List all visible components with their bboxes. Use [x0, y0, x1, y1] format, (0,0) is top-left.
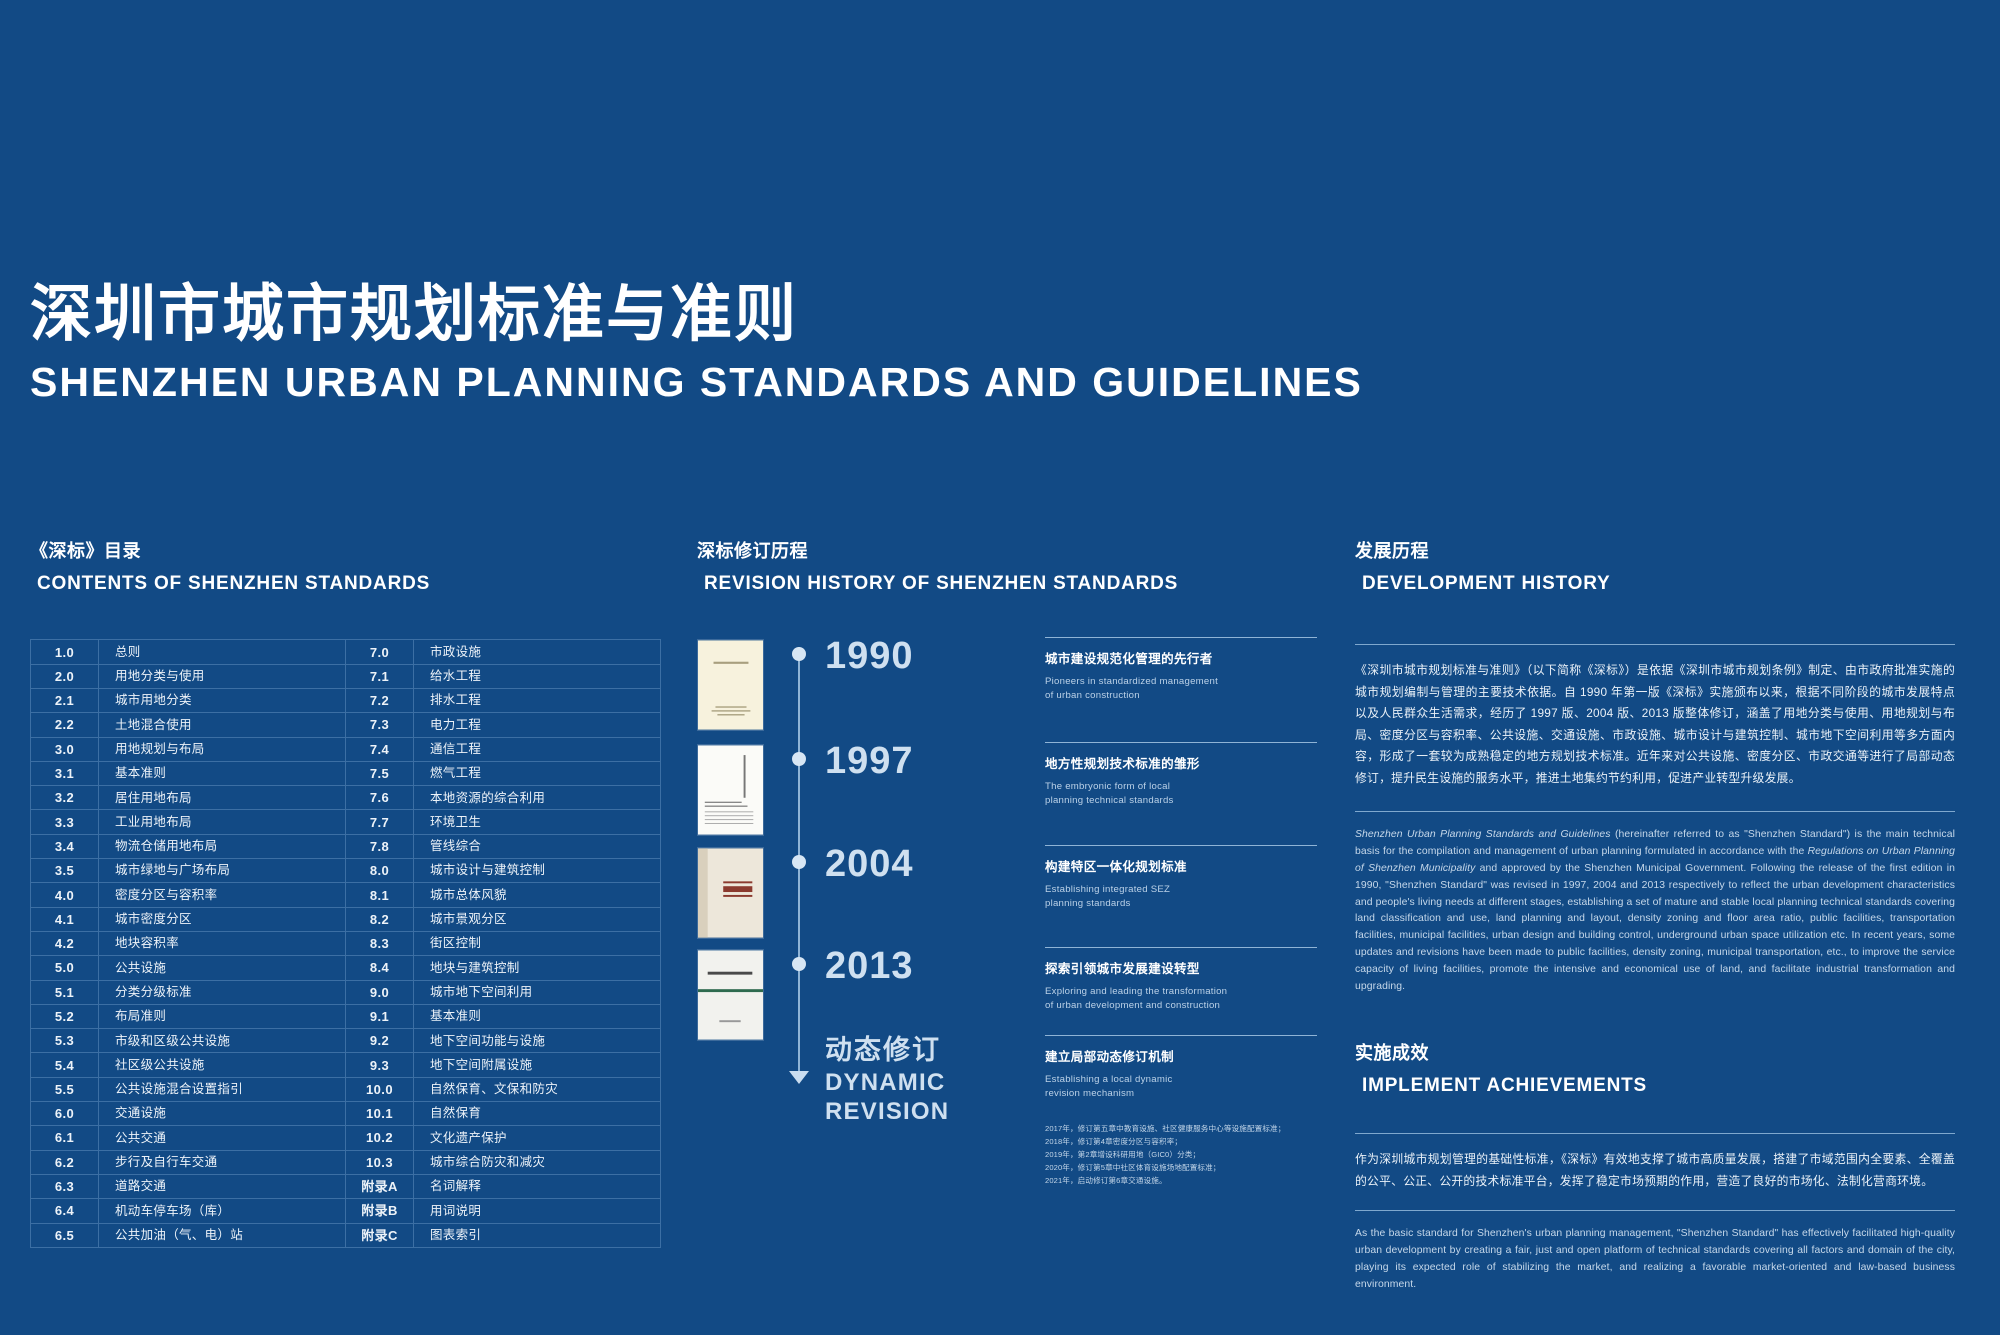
toc-label-left: 机动车停车场（库）	[99, 1199, 346, 1223]
achievements-heading-cn: 实施成效	[1355, 1040, 1955, 1067]
toc-number-right: 8.3	[346, 931, 414, 955]
achievements-divider-2	[1355, 1210, 1955, 1211]
timeline-description-rule	[1045, 637, 1317, 638]
toc-label-left: 地块容积率	[99, 931, 346, 955]
toc-label-left: 市级和区级公共设施	[99, 1029, 346, 1053]
toc-label-right: 市政设施	[414, 640, 661, 664]
development-divider-1	[1355, 644, 1955, 645]
toc-label-right: 电力工程	[414, 713, 661, 737]
timeline-description-rule	[1045, 742, 1317, 743]
achievements-paragraph-cn: 作为深圳城市规划管理的基础性标准，《深标》有效地支撑了城市高质量发展，搭建了市域…	[1355, 1149, 1955, 1192]
page-title-en: SHENZHEN URBAN PLANNING STANDARDS AND GU…	[30, 359, 1363, 406]
table-row: 5.1分类分级标准9.0城市地下空间利用	[31, 980, 661, 1004]
timeline-dot-icon	[792, 957, 806, 971]
toc-number-left: 5.4	[31, 1053, 99, 1077]
toc-label-right: 环境卫生	[414, 810, 661, 834]
timeline-description-en: Exploring and leading the transformation…	[1045, 985, 1317, 1012]
toc-number-left: 6.3	[31, 1174, 99, 1198]
dynamic-revision-label-en: DYNAMICREVISION	[825, 1069, 949, 1126]
development-para-italic-1: Shenzhen Urban Planning Standards and Gu…	[1355, 829, 1611, 840]
poster-root: 深圳市城市规划标准与准则 SHENZHEN URBAN PLANNING STA…	[0, 0, 2000, 1335]
toc-number-left: 2.0	[31, 664, 99, 688]
toc-label-right: 名词解释	[414, 1174, 661, 1198]
toc-label-right: 本地资源的综合利用	[414, 786, 661, 810]
toc-label-right: 自然保育、文保和防灾	[414, 1077, 661, 1101]
toc-label-left: 公共设施混合设置指引	[99, 1077, 346, 1101]
toc-number-left: 6.5	[31, 1223, 99, 1247]
toc-number-right: 9.2	[346, 1029, 414, 1053]
toc-number-left: 3.4	[31, 834, 99, 858]
dynamic-revision-notes: 2017年，修订第五章中教育设施、社区健康服务中心等设施配置标准；2018年，修…	[1045, 1122, 1317, 1187]
timeline-description-en: The embryonic form of local planning tec…	[1045, 780, 1317, 807]
timeline-year: 2004	[825, 845, 914, 883]
table-row: 4.1城市密度分区8.2城市景观分区	[31, 907, 661, 931]
timeline-year: 2013	[825, 947, 914, 985]
toc-label-left: 物流仓储用地布局	[99, 834, 346, 858]
achievements-section: 实施成效 IMPLEMENT ACHIEVEMENTS 作为深圳城市规划管理的基…	[1355, 1040, 1955, 1294]
toc-label-right: 城市综合防灾和减灾	[414, 1150, 661, 1174]
development-paragraph-cn: 《深圳市城市规划标准与准则》（以下简称《深标》）是依据《深圳市城市规划条例》制定…	[1355, 660, 1955, 789]
table-row: 4.0密度分区与容积率8.1城市总体风貌	[31, 883, 661, 907]
toc-label-right: 燃气工程	[414, 761, 661, 785]
toc-label-left: 公共设施	[99, 956, 346, 980]
timeline-arrow-icon	[789, 1071, 809, 1084]
timeline-description-cn: 地方性规划技术标准的雏形	[1045, 756, 1317, 774]
toc-number-left: 4.1	[31, 907, 99, 931]
toc-label-right: 图表索引	[414, 1223, 661, 1247]
book-cover-image	[697, 949, 764, 1041]
toc-label-right: 排水工程	[414, 688, 661, 712]
timeline-dot-icon	[792, 647, 806, 661]
toc-label-left: 城市密度分区	[99, 907, 346, 931]
toc-label-right: 地块与建筑控制	[414, 956, 661, 980]
toc-label-right: 城市地下空间利用	[414, 980, 661, 1004]
toc-label-right: 街区控制	[414, 931, 661, 955]
table-row: 6.1公共交通10.2文化遗产保护	[31, 1126, 661, 1150]
toc-label-right: 管线综合	[414, 834, 661, 858]
toc-number-right: 9.3	[346, 1053, 414, 1077]
timeline-dot-icon	[792, 855, 806, 869]
timeline-description: 构建特区一体化规划标准Establishing integrated SEZ p…	[1045, 845, 1317, 910]
toc-label-right: 地下空间功能与设施	[414, 1029, 661, 1053]
timeline-description-cn: 构建特区一体化规划标准	[1045, 859, 1317, 877]
table-row: 3.0用地规划与布局7.4通信工程	[31, 737, 661, 761]
table-row: 2.0用地分类与使用7.1给水工程	[31, 664, 661, 688]
toc-number-left: 3.5	[31, 859, 99, 883]
table-row: 4.2地块容积率8.3街区控制	[31, 931, 661, 955]
development-paragraph-en: Shenzhen Urban Planning Standards and Gu…	[1355, 827, 1955, 995]
toc-number-right: 7.2	[346, 688, 414, 712]
contents-heading-cn: 《深标》目录	[30, 538, 660, 565]
toc-label-right: 自然保育	[414, 1102, 661, 1126]
toc-number-right: 9.0	[346, 980, 414, 1004]
toc-label-left: 用地分类与使用	[99, 664, 346, 688]
timeline-year: 1997	[825, 742, 914, 780]
toc-label-left: 公共交通	[99, 1126, 346, 1150]
revision-heading-cn: 深标修订历程	[697, 538, 1317, 565]
toc-label-right: 城市总体风貌	[414, 883, 661, 907]
development-divider-2	[1355, 811, 1955, 812]
dynamic-revision-note: 2021年，启动修订第6章交通设施。	[1045, 1174, 1317, 1187]
toc-number-right: 8.1	[346, 883, 414, 907]
toc-label-right: 用词说明	[414, 1199, 661, 1223]
table-row: 5.2布局准则9.1基本准则	[31, 1004, 661, 1028]
toc-number-left: 5.2	[31, 1004, 99, 1028]
timeline-description-en: Pioneers in standardized management of u…	[1045, 675, 1317, 702]
toc-label-left: 城市绿地与广场布局	[99, 859, 346, 883]
toc-number-right: 10.3	[346, 1150, 414, 1174]
dynamic-revision-note: 2020年，修订第5章中社区体育设施场地配置标准；	[1045, 1161, 1317, 1174]
toc-label-left: 土地混合使用	[99, 713, 346, 737]
dynamic-revision-description: 建立局部动态修订机制Establishing a local dynamic r…	[1045, 1035, 1317, 1187]
toc-number-left: 4.2	[31, 931, 99, 955]
toc-label-left: 步行及自行车交通	[99, 1150, 346, 1174]
toc-label-right: 文化遗产保护	[414, 1126, 661, 1150]
toc-label-left: 工业用地布局	[99, 810, 346, 834]
book-cover-image	[697, 744, 764, 836]
toc-number-left: 6.1	[31, 1126, 99, 1150]
dynamic-revision-en-line1: DYNAMIC	[825, 1069, 945, 1096]
toc-number-left: 2.1	[31, 688, 99, 712]
timeline-dot-icon	[792, 752, 806, 766]
timeline-description: 地方性规划技术标准的雏形The embryonic form of local …	[1045, 742, 1317, 807]
revision-timeline: 1990城市建设规范化管理的先行者Pioneers in standardize…	[697, 639, 1317, 1109]
toc-number-right: 8.0	[346, 859, 414, 883]
toc-label-right: 城市设计与建筑控制	[414, 859, 661, 883]
toc-number-left: 5.0	[31, 956, 99, 980]
toc-number-left: 3.0	[31, 737, 99, 761]
development-para-text-4: and approved by the Shenzhen Municipal G…	[1355, 863, 1955, 992]
book-cover-image	[697, 639, 764, 731]
toc-number-right: 8.2	[346, 907, 414, 931]
dynamic-revision-label-cn: 动态修订	[825, 1037, 941, 1064]
toc-number-left: 6.0	[31, 1102, 99, 1126]
timeline-description: 城市建设规范化管理的先行者Pioneers in standardized ma…	[1045, 637, 1317, 702]
toc-number-left: 6.2	[31, 1150, 99, 1174]
table-row: 5.0公共设施8.4地块与建筑控制	[31, 956, 661, 980]
table-row: 6.0交通设施10.1自然保育	[31, 1102, 661, 1126]
revision-section: 深标修订历程 REVISION HISTORY OF SHENZHEN STAN…	[697, 538, 1317, 1109]
toc-label-left: 布局准则	[99, 1004, 346, 1028]
toc-number-left: 6.4	[31, 1199, 99, 1223]
toc-label-left: 交通设施	[99, 1102, 346, 1126]
timeline-year: 1990	[825, 637, 914, 675]
toc-number-right: 附录A	[346, 1174, 414, 1198]
development-heading-cn: 发展历程	[1355, 538, 1955, 565]
achievements-paragraph-en: As the basic standard for Shenzhen's urb…	[1355, 1226, 1955, 1293]
toc-number-left: 3.3	[31, 810, 99, 834]
dynamic-revision-en-line2: REVISION	[825, 1098, 949, 1125]
table-row: 6.4机动车停车场（库）附录B用词说明	[31, 1199, 661, 1223]
timeline-description-rule	[1045, 845, 1317, 846]
toc-number-left: 4.0	[31, 883, 99, 907]
toc-number-left: 3.2	[31, 786, 99, 810]
toc-label-left: 社区级公共设施	[99, 1053, 346, 1077]
page-title-cn: 深圳市城市规划标准与准则	[30, 282, 1363, 349]
toc-number-left: 5.1	[31, 980, 99, 1004]
toc-label-left: 总则	[99, 640, 346, 664]
toc-label-left: 用地规划与布局	[99, 737, 346, 761]
toc-label-right: 地下空间附属设施	[414, 1053, 661, 1077]
toc-label-left: 密度分区与容积率	[99, 883, 346, 907]
timeline-description-en: Establishing integrated SEZ planning sta…	[1045, 883, 1317, 910]
poster-header: 深圳市城市规划标准与准则 SHENZHEN URBAN PLANNING STA…	[30, 282, 1363, 406]
toc-label-right: 通信工程	[414, 737, 661, 761]
toc-number-right: 附录B	[346, 1199, 414, 1223]
dynamic-revision-note: 2017年，修订第五章中教育设施、社区健康服务中心等设施配置标准；	[1045, 1122, 1317, 1135]
dynamic-revision-note: 2018年，修订第4章密度分区与容积率；	[1045, 1135, 1317, 1148]
development-section: 发展历程 DEVELOPMENT HISTORY 《深圳市城市规划标准与准则》（…	[1355, 538, 1955, 1293]
achievements-divider-1	[1355, 1133, 1955, 1134]
table-row: 6.3道路交通附录A名词解释	[31, 1174, 661, 1198]
toc-number-right: 7.1	[346, 664, 414, 688]
table-row: 3.3工业用地布局7.7环境卫生	[31, 810, 661, 834]
table-row: 5.4社区级公共设施9.3地下空间附属设施	[31, 1053, 661, 1077]
table-row: 3.2居住用地布局7.6本地资源的综合利用	[31, 786, 661, 810]
toc-label-left: 分类分级标准	[99, 980, 346, 1004]
toc-label-right: 基本准则	[414, 1004, 661, 1028]
table-row: 6.5公共加油（气、电）站附录C图表索引	[31, 1223, 661, 1247]
table-row: 6.2步行及自行车交通10.3城市综合防灾和减灾	[31, 1150, 661, 1174]
toc-number-right: 7.6	[346, 786, 414, 810]
development-heading-en: DEVELOPMENT HISTORY	[1362, 569, 1955, 599]
toc-number-left: 3.1	[31, 761, 99, 785]
toc-number-left: 2.2	[31, 713, 99, 737]
toc-label-left: 基本准则	[99, 761, 346, 785]
revision-heading-en: REVISION HISTORY OF SHENZHEN STANDARDS	[704, 569, 1317, 599]
table-row: 3.4物流仓储用地布局7.8管线综合	[31, 834, 661, 858]
toc-label-left: 道路交通	[99, 1174, 346, 1198]
contents-table: 1.0总则7.0市政设施2.0用地分类与使用7.1给水工程2.1城市用地分类7.…	[30, 639, 661, 1247]
toc-label-left: 公共加油（气、电）站	[99, 1223, 346, 1247]
contents-section: 《深标》目录 CONTENTS OF SHENZHEN STANDARDS 1.…	[30, 538, 660, 1248]
toc-number-right: 7.8	[346, 834, 414, 858]
toc-label-right: 给水工程	[414, 664, 661, 688]
toc-number-right: 10.2	[346, 1126, 414, 1150]
toc-number-right: 7.3	[346, 713, 414, 737]
table-row: 5.5公共设施混合设置指引10.0自然保育、文保和防灾	[31, 1077, 661, 1101]
toc-number-right: 7.4	[346, 737, 414, 761]
contents-heading-en: CONTENTS OF SHENZHEN STANDARDS	[37, 569, 660, 599]
toc-number-right: 9.1	[346, 1004, 414, 1028]
toc-number-right: 附录C	[346, 1223, 414, 1247]
achievements-heading-en: IMPLEMENT ACHIEVEMENTS	[1362, 1071, 1955, 1101]
timeline-description-cn: 城市建设规范化管理的先行者	[1045, 651, 1317, 669]
toc-number-right: 7.7	[346, 810, 414, 834]
timeline-description-rule	[1045, 947, 1317, 948]
table-row: 2.1城市用地分类7.2排水工程	[31, 688, 661, 712]
table-row: 3.1基本准则7.5燃气工程	[31, 761, 661, 785]
book-cover-image	[697, 847, 764, 939]
toc-number-right: 8.4	[346, 956, 414, 980]
toc-number-right: 10.1	[346, 1102, 414, 1126]
timeline-description-cn: 探索引领城市发展建设转型	[1045, 961, 1317, 979]
dynamic-revision-note: 2019年，第2章增设科研用地（GIC0）分类；	[1045, 1148, 1317, 1161]
table-row: 1.0总则7.0市政设施	[31, 640, 661, 664]
table-row: 2.2土地混合使用7.3电力工程	[31, 713, 661, 737]
toc-number-right: 7.5	[346, 761, 414, 785]
table-row: 3.5城市绿地与广场布局8.0城市设计与建筑控制	[31, 859, 661, 883]
timeline-description: 探索引领城市发展建设转型Exploring and leading the tr…	[1045, 947, 1317, 1012]
dynamic-revision-desc-cn: 建立局部动态修订机制	[1045, 1049, 1317, 1067]
dynamic-revision-desc-en: Establishing a local dynamic revision me…	[1045, 1073, 1317, 1100]
table-row: 5.3市级和区级公共设施9.2地下空间功能与设施	[31, 1029, 661, 1053]
toc-number-left: 1.0	[31, 640, 99, 664]
toc-label-left: 居住用地布局	[99, 786, 346, 810]
toc-number-left: 5.3	[31, 1029, 99, 1053]
toc-label-left: 城市用地分类	[99, 688, 346, 712]
toc-number-left: 5.5	[31, 1077, 99, 1101]
toc-number-right: 10.0	[346, 1077, 414, 1101]
dynamic-revision-rule	[1045, 1035, 1317, 1036]
toc-label-right: 城市景观分区	[414, 907, 661, 931]
toc-number-right: 7.0	[346, 640, 414, 664]
